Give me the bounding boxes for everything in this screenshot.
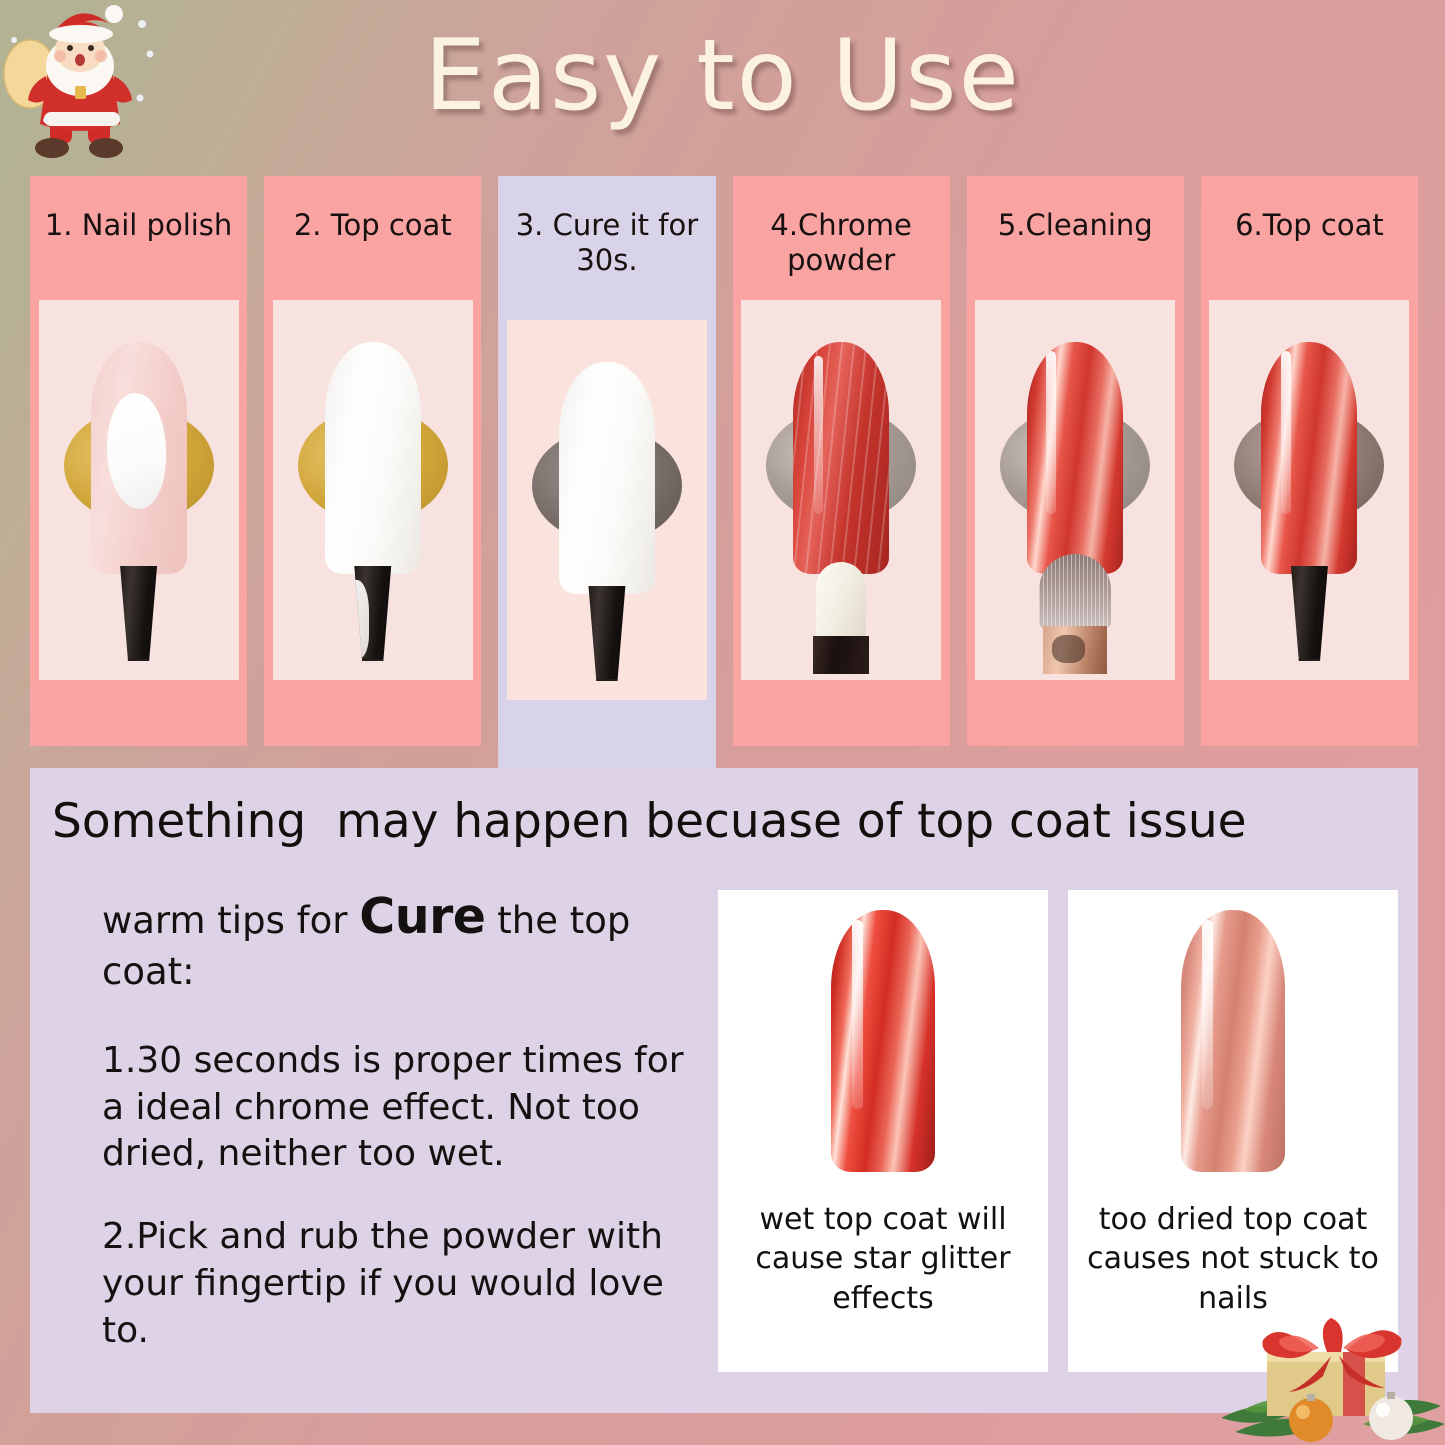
tool-brush-cap — [1287, 566, 1331, 674]
tool-sponge-applicator — [813, 562, 869, 674]
product-infographic-poster: Easy to Use 1. Nail polish 2. Top coat 3… — [0, 0, 1445, 1445]
step-photo-4 — [741, 300, 941, 680]
nail-bright-red-chrome — [831, 910, 935, 1172]
tips-column: warm tips for Cure the top coat: 1.30 se… — [56, 886, 696, 1391]
tool-brush-cap-white — [351, 566, 395, 674]
nail-red-chrome — [1027, 342, 1123, 574]
step-label-1: 1. Nail polish — [41, 192, 236, 300]
step-card-1: 1. Nail polish — [30, 176, 247, 746]
step-photo-3 — [507, 320, 707, 700]
tips-lead: warm tips for Cure the top coat: — [102, 886, 696, 996]
step-photo-5 — [975, 300, 1175, 680]
comparison-card-dried: too dried top coat causes not stuck to n… — [1068, 890, 1398, 1372]
step-card-3: 3. Cure it for 30s. — [498, 176, 715, 772]
step-photo-2 — [273, 300, 473, 680]
nail-white-cured — [559, 362, 655, 594]
step-label-3: 3. Cure it for 30s. — [504, 192, 709, 320]
step-card-6: 6.Top coat — [1201, 176, 1418, 746]
tips-lead-before: warm tips for — [102, 899, 348, 942]
nail-dull-rose-chrome — [1181, 910, 1285, 1172]
tips-lead-emphasis: Cure — [359, 888, 485, 945]
tool-makeup-brush — [1033, 554, 1117, 674]
panel-body: warm tips for Cure the top coat: 1.30 se… — [30, 848, 1418, 1391]
step-label-5: 5.Cleaning — [994, 192, 1157, 300]
nail-white-coated — [325, 342, 421, 574]
step-card-4: 4.Chrome powder — [733, 176, 950, 746]
nail-clear-with-white-polish — [91, 342, 187, 574]
panel-heading: Something may happen becuase of top coat… — [30, 768, 1418, 848]
comparison-caption-dried: too dried top coat causes not stuck to n… — [1068, 1200, 1398, 1319]
comparison-caption-wet: wet top coat will cause star glitter eff… — [718, 1200, 1048, 1319]
tip-item-1: 1.30 seconds is proper times for a ideal… — [102, 1038, 696, 1178]
top-coat-issue-panel: Something may happen becuase of top coat… — [30, 768, 1418, 1413]
tip-item-2: 2.Pick and rub the powder with your fing… — [102, 1214, 696, 1354]
nail-red-chrome-finished — [1261, 342, 1357, 574]
step-photo-1 — [39, 300, 239, 680]
steps-strip: 1. Nail polish 2. Top coat 3. Cure it fo… — [30, 176, 1418, 746]
comparison-column: wet top coat will cause star glitter eff… — [718, 886, 1398, 1391]
comparison-card-wet: wet top coat will cause star glitter eff… — [718, 890, 1048, 1372]
tool-brush-cap — [585, 586, 629, 694]
step-label-4: 4.Chrome powder — [739, 192, 944, 300]
step-card-5: 5.Cleaning — [967, 176, 1184, 746]
step-photo-6 — [1209, 300, 1409, 680]
nail-red-glitter-chrome — [793, 342, 889, 574]
step-card-2: 2. Top coat — [264, 176, 481, 746]
step-label-6: 6.Top coat — [1231, 192, 1388, 300]
step-label-2: 2. Top coat — [290, 192, 456, 300]
page-title: Easy to Use — [0, 22, 1445, 132]
tool-brush-cap — [117, 566, 161, 674]
